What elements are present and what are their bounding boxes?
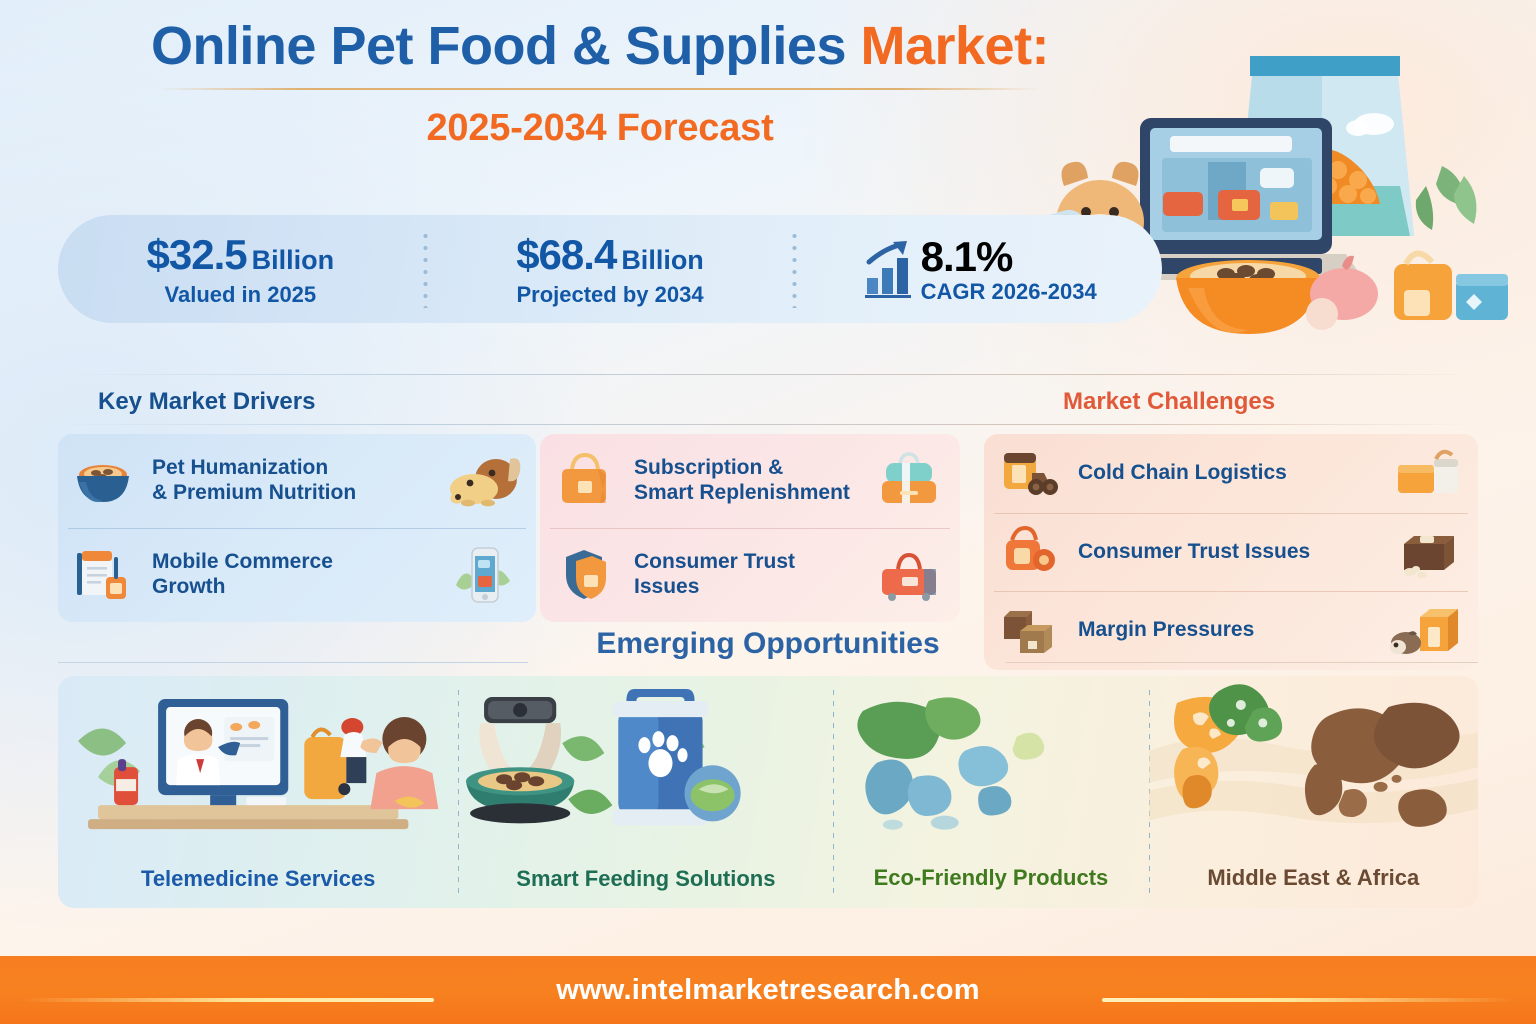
- stat-value-row: $68.4Billion: [516, 231, 704, 279]
- challenge-row-consumer-trust[interactable]: Consumer Trust Issues: [984, 513, 1478, 592]
- sub-row-subscription[interactable]: Subscription &Smart Replenishment: [540, 434, 960, 528]
- page-subtitle: 2025-2034 Forecast: [0, 107, 1200, 150]
- footer-accent-right: [1102, 998, 1516, 1002]
- emerging-divider-right: [1006, 662, 1478, 663]
- emerging-columns: Telemedicine Services: [58, 676, 1478, 908]
- shopping-bag-icon: [554, 451, 616, 511]
- drivers-heading: Key Market Drivers: [98, 388, 315, 416]
- emerging-label-telemedicine: Telemedicine Services: [58, 849, 458, 908]
- title-main: Online Pet Food & Supplies: [151, 16, 861, 76]
- emerging-col-smart-feeding[interactable]: Smart Feeding Solutions: [458, 676, 833, 908]
- package-delivery-icon: [1390, 443, 1464, 503]
- gift-bag-icon: [1394, 253, 1452, 320]
- key-market-drivers-card: Pet Humanization& Premium Nutrition: [58, 434, 536, 622]
- driver-label: Pet Humanization& Premium Nutrition: [134, 456, 448, 506]
- challenges-heading: Market Challenges: [1063, 388, 1275, 416]
- smart-feeder-illustration: [458, 676, 833, 849]
- dog-illustration-icon: [448, 451, 522, 511]
- cold-chain-container-icon: [998, 443, 1060, 503]
- orange-carrier-icon: [998, 522, 1060, 582]
- food-bowl-icon: [1176, 260, 1320, 334]
- challenge-label: Consumer Trust Issues: [1060, 540, 1390, 565]
- mea-world-map-illustration: [1149, 676, 1478, 849]
- plant-icon: [1416, 166, 1477, 230]
- emerging-col-telemedicine[interactable]: Telemedicine Services: [58, 676, 458, 908]
- section-divider-bottom: [58, 424, 1478, 425]
- stat-label: Valued in 2025: [165, 282, 317, 308]
- title-divider: [160, 88, 1040, 90]
- travel-bag-icon: [872, 451, 946, 511]
- stat-value: 8.1%: [921, 233, 1013, 281]
- stats-band: $32.5Billion Valued in 2025 $68.4Billion…: [58, 215, 1162, 323]
- emerging-col-middle-east-africa[interactable]: Middle East & Africa: [1149, 676, 1478, 908]
- stat-value: $68.4: [516, 231, 616, 278]
- stat-unit: Billion: [252, 245, 335, 275]
- stat-value: $32.5: [147, 231, 247, 278]
- section-divider-top: [58, 374, 1478, 375]
- stat-label: Projected by 2034: [516, 282, 703, 308]
- subscription-card: Subscription &Smart Replenishment Consum…: [540, 434, 960, 622]
- driver-row-pet-humanization[interactable]: Pet Humanization& Premium Nutrition: [58, 434, 536, 528]
- challenge-label: Cold Chain Logistics: [1060, 461, 1390, 486]
- stat-value-row: $32.5Billion: [147, 231, 335, 279]
- stat-cagr: 8.1% CAGR 2026-2034: [797, 233, 1162, 305]
- gift-box-icon: [1456, 274, 1508, 320]
- stat-label: CAGR 2026-2034: [921, 279, 1097, 305]
- emerging-opportunities-band: Telemedicine Services: [58, 676, 1478, 908]
- brown-box-spill-icon: [1390, 522, 1464, 582]
- header: Online Pet Food & Supplies Market: 2025-…: [0, 18, 1200, 150]
- bar-chart-growth-icon: [863, 240, 917, 298]
- emerging-divider-left: [58, 662, 528, 663]
- emerging-label-eco-friendly: Eco-Friendly Products: [833, 849, 1148, 908]
- stat-projected-2034: $68.4Billion Projected by 2034: [428, 231, 793, 308]
- pet-food-bowl-icon: [72, 451, 134, 511]
- clipboard-pen-icon: [72, 545, 134, 605]
- eco-world-map-illustration: [833, 676, 1148, 849]
- stat-unit: Billion: [621, 245, 704, 275]
- challenge-row-cold-chain[interactable]: Cold Chain Logistics: [984, 434, 1478, 513]
- telemedicine-illustration: [58, 676, 458, 849]
- pet-carrier-icon: [872, 545, 946, 605]
- title-accent: Market:: [860, 16, 1049, 76]
- infographic-canvas: Online Pet Food & Supplies Market: 2025-…: [0, 0, 1536, 1024]
- emerging-heading: Emerging Opportunities: [0, 627, 1536, 661]
- page-title: Online Pet Food & Supplies Market:: [0, 18, 1200, 75]
- emerging-label-middle-east-africa: Middle East & Africa: [1149, 849, 1478, 908]
- emerging-col-eco-friendly[interactable]: Eco-Friendly Products: [833, 676, 1148, 908]
- emerging-label-smart-feeding: Smart Feeding Solutions: [458, 849, 833, 908]
- cagr-text: 8.1% CAGR 2026-2034: [921, 233, 1097, 305]
- footer-bar: www.intelmarketresearch.com: [0, 956, 1536, 1024]
- driver-label: Mobile CommerceGrowth: [134, 550, 448, 600]
- footer-url[interactable]: www.intelmarketresearch.com: [556, 974, 979, 1007]
- driver-row-mobile-commerce[interactable]: Mobile CommerceGrowth: [58, 528, 536, 622]
- sub-label: Consumer Trust Issues: [616, 550, 872, 600]
- footer-accent-left: [20, 998, 434, 1002]
- sub-row-consumer-trust[interactable]: Consumer Trust Issues: [540, 528, 960, 622]
- smartphone-shopping-icon: [448, 545, 522, 605]
- sub-label: Subscription &Smart Replenishment: [616, 456, 872, 506]
- stat-valued-2025: $32.5Billion Valued in 2025: [58, 231, 423, 308]
- shield-backpack-icon: [554, 545, 616, 605]
